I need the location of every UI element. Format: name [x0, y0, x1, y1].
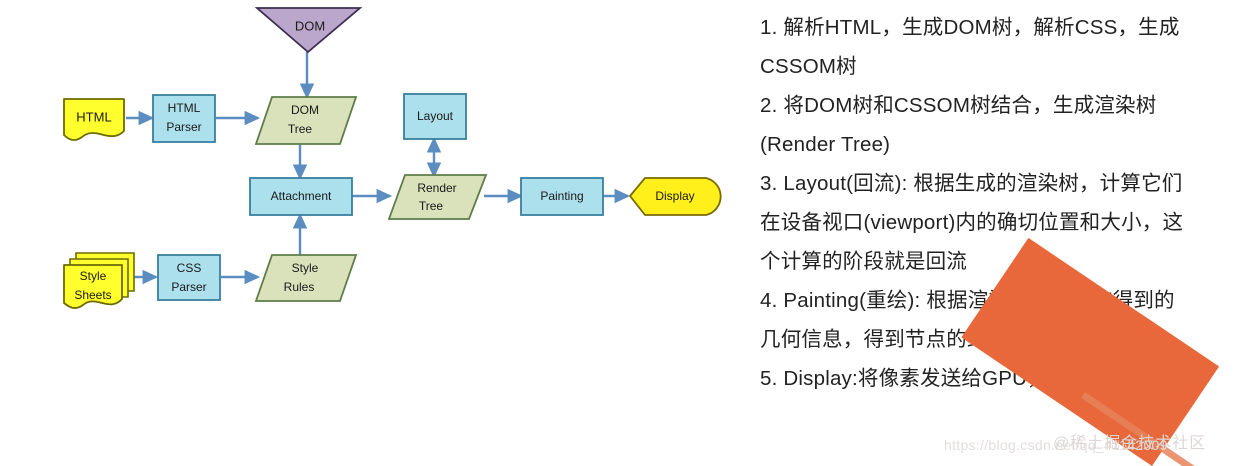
node-dom-tree: DOM Tree — [256, 97, 356, 144]
node-style-sheets-label-1: Style — [80, 269, 107, 283]
explanation-line: (Render Tree) — [760, 125, 1238, 164]
explanation-line: 在设备视口(viewport)内的确切位置和大小，这 — [760, 203, 1238, 242]
node-attachment: Attachment — [250, 178, 352, 215]
node-display-label: Display — [655, 189, 694, 203]
node-layout: Layout — [404, 94, 466, 139]
node-attachment-label: Attachment — [271, 189, 332, 203]
node-css-parser: CSS Parser — [158, 255, 220, 300]
node-dom: DOM — [257, 8, 360, 52]
node-html-label: HTML — [76, 109, 111, 124]
explanation-line: 5. Display:将像素发送给GPU，展示在页面上 — [760, 359, 1238, 398]
node-html-parser-label-1: HTML — [168, 101, 201, 115]
browser-rendering-pipeline-diagram: DOM HTML HTML Parser DOM Tree — [0, 0, 745, 466]
node-dom-tree-label-1: DOM — [291, 103, 319, 117]
node-render-tree-label-2: Tree — [419, 199, 444, 213]
node-style-sheets-label-2: Sheets — [74, 288, 111, 302]
node-style-rules: Style Rules — [256, 255, 356, 301]
node-render-tree-label-1: Render — [417, 181, 456, 195]
node-layout-label: Layout — [417, 109, 454, 123]
explanation-line: 1. 解析HTML，生成DOM树，解析CSS，生成 — [760, 8, 1238, 47]
node-html-parser-label-2: Parser — [166, 120, 201, 134]
node-dom-tree-label-2: Tree — [288, 122, 313, 136]
explanation-line: 3. Layout(回流): 根据生成的渲染树，计算它们 — [760, 164, 1238, 203]
explanation-line: 个计算的阶段就是回流 — [760, 242, 1238, 281]
node-css-parser-label-1: CSS — [177, 261, 202, 275]
node-dom-label: DOM — [295, 18, 325, 33]
explanation-line: 2. 将DOM树和CSSOM树结合，生成渲染树 — [760, 86, 1238, 125]
node-painting-label: Painting — [540, 189, 583, 203]
diagram-edges — [126, 52, 628, 277]
node-painting: Painting — [521, 178, 603, 215]
node-html: HTML — [64, 99, 124, 140]
node-style-sheets: Style Sheets — [64, 253, 134, 308]
node-css-parser-label-2: Parser — [171, 280, 206, 294]
explanation-line: 几何信息，得到节点的绝对像素 — [760, 320, 1238, 359]
node-display: Display — [630, 178, 721, 215]
explanation-text: 1. 解析HTML，生成DOM树，解析CSS，生成 CSSOM树 2. 将DOM… — [760, 8, 1238, 398]
node-style-rules-label-2: Rules — [284, 280, 315, 294]
watermark-brand: @稀土掘金技术社区 — [1053, 429, 1206, 453]
explanation-line: 4. Painting(重绘): 根据渲染树以及回流得到的 — [760, 281, 1238, 320]
explanation-line: CSSOM树 — [760, 47, 1238, 86]
node-render-tree: Render Tree — [389, 175, 486, 219]
node-style-rules-label-1: Style — [292, 261, 319, 275]
node-html-parser: HTML Parser — [153, 95, 215, 142]
screenshot-root: DOM HTML HTML Parser DOM Tree — [0, 0, 1245, 466]
